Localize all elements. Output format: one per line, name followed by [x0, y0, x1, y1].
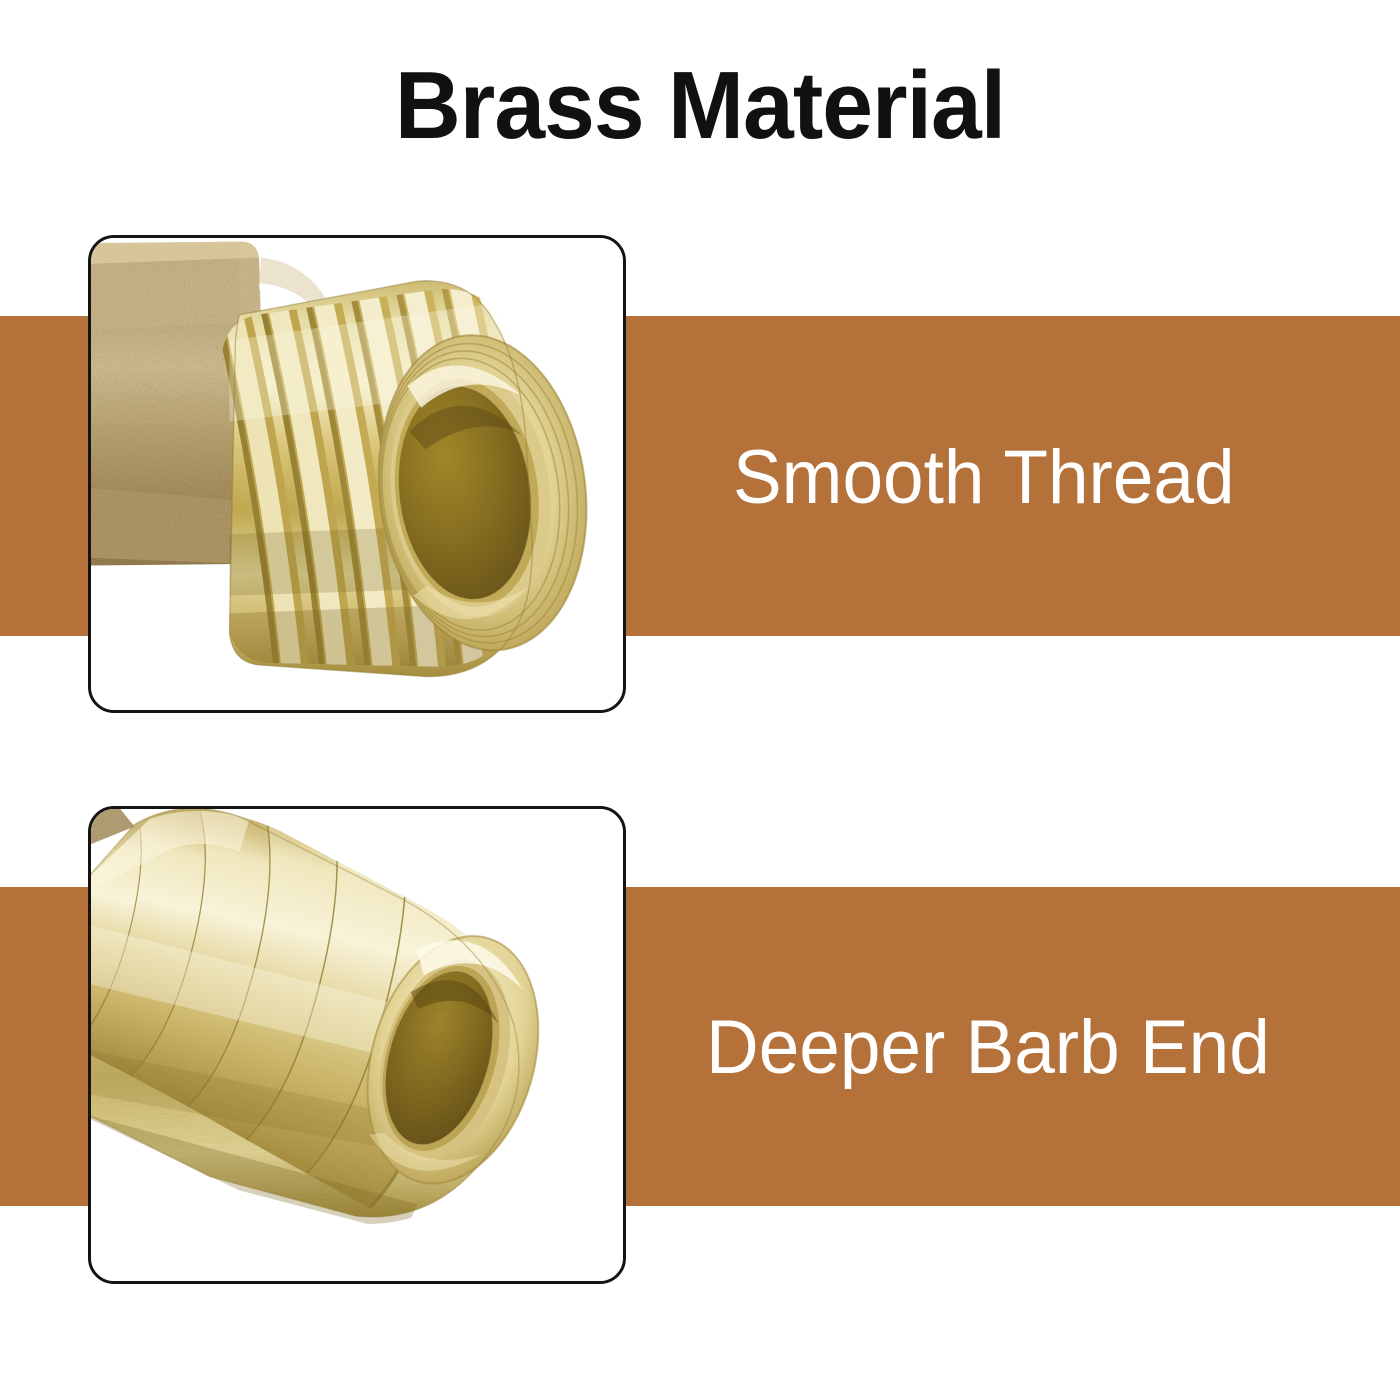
product-photo-card-smooth-thread — [88, 235, 626, 713]
threaded-fitting-illustration — [91, 238, 623, 710]
feature-label-smooth-thread: Smooth Thread — [733, 440, 1235, 516]
infographic-canvas: Brass Material Smooth Thread Deeper Barb… — [0, 0, 1400, 1400]
feature-label-deeper-barb-end: Deeper Barb End — [706, 1010, 1270, 1086]
product-photo-card-deeper-barb-end — [88, 806, 626, 1284]
page-title: Brass Material — [35, 58, 1365, 154]
hose-barb-illustration — [91, 809, 623, 1281]
